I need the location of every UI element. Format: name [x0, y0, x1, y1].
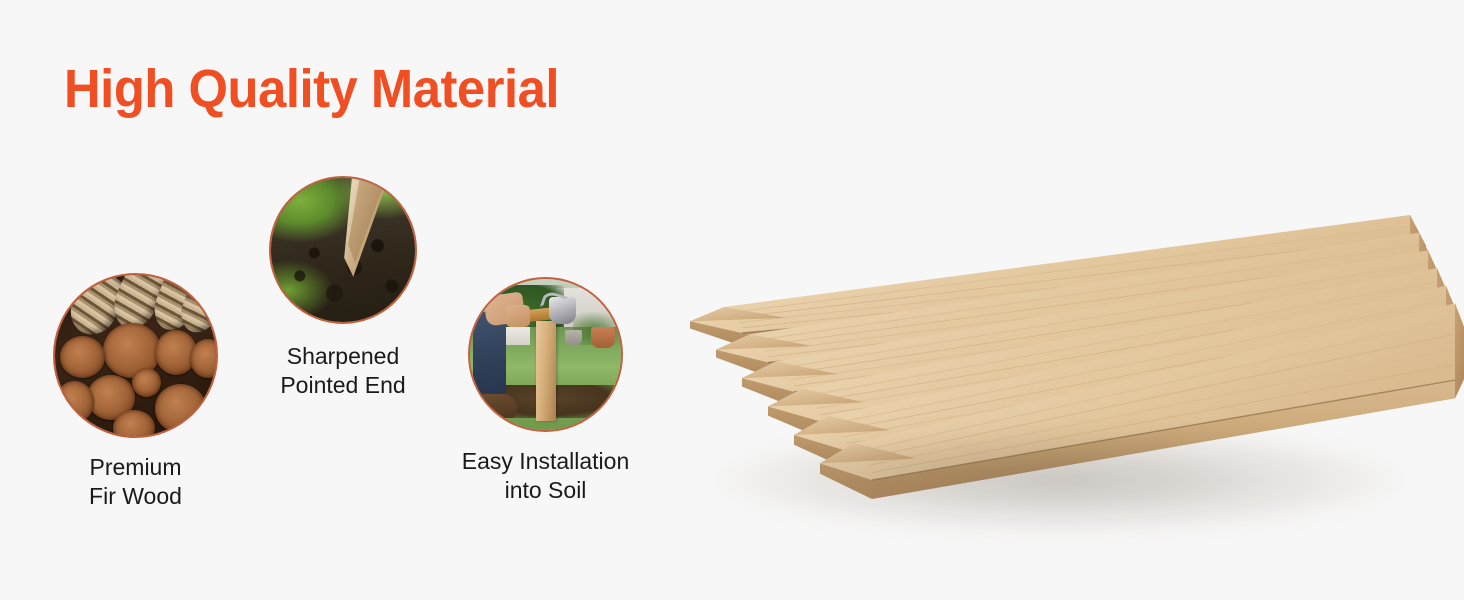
caption-line-2: Pointed End — [280, 371, 405, 400]
soil-scene — [271, 178, 415, 322]
caption-line-2: Fir Wood — [89, 482, 182, 511]
product-image-wooden-stakes — [650, 95, 1464, 535]
feature-caption: Easy Installation into Soil — [462, 447, 629, 506]
logs-scene — [55, 275, 216, 436]
garden-scene — [470, 279, 621, 430]
feature-caption: Premium Fir Wood — [89, 453, 182, 512]
stake-point-in-soil-icon — [269, 176, 417, 324]
caption-line-1: Premium — [89, 453, 182, 482]
stake-face — [1455, 303, 1464, 398]
stacked-logs-icon — [53, 273, 218, 438]
feature-premium-fir-wood: Premium Fir Wood — [53, 273, 218, 438]
caption-line-1: Sharpened — [280, 342, 405, 371]
caption-line-2: into Soil — [462, 476, 629, 505]
marketing-banner: High Quality Material — [0, 0, 1464, 600]
feature-caption: Sharpened Pointed End — [280, 342, 405, 401]
caption-line-1: Easy Installation — [462, 447, 629, 476]
feature-easy-installation-into-soil: Easy Installation into Soil — [468, 277, 623, 432]
stake-being-driven — [536, 321, 556, 421]
page-title: High Quality Material — [64, 60, 559, 119]
feature-sharpened-pointed-end: Sharpened Pointed End — [269, 176, 417, 324]
hammering-stake-icon — [468, 277, 623, 432]
product-shadow — [710, 425, 1410, 535]
